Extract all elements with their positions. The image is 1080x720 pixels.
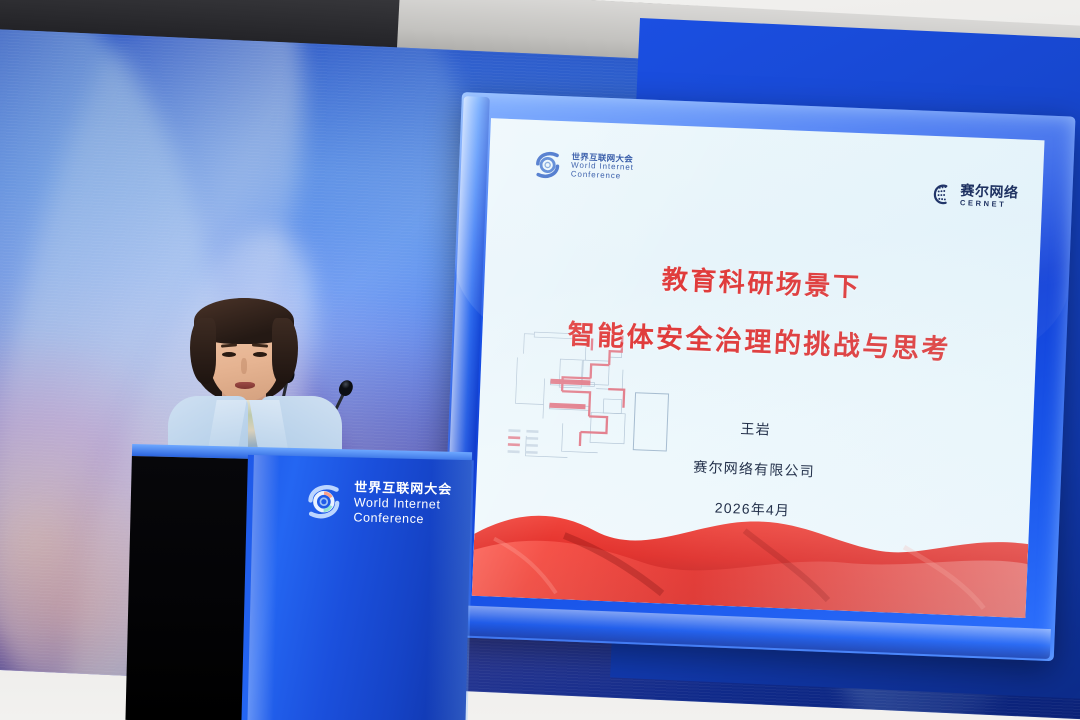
red-silk-wave-graphic xyxy=(472,486,1030,618)
podium-logo-cn: 世界互联网大会 xyxy=(354,479,452,497)
slide-title-block: 教育科研场景下 智能体安全治理的挑战与思考 xyxy=(481,252,1039,390)
presentation-screen: 世界互联网大会 World Internet Conference xyxy=(440,92,1075,661)
podium-wic-logo: 世界互联网大会 World Internet Conference xyxy=(302,478,452,527)
slide-wic-logo: 世界互联网大会 World Internet Conference xyxy=(530,148,634,185)
wic-ring-swoosh-icon xyxy=(530,148,564,182)
presenter-eye-left xyxy=(222,352,236,357)
podium-logo-en-2: Conference xyxy=(353,510,451,527)
podium-dark-panel xyxy=(125,456,249,720)
slide-organization: 赛尔网络有限公司 xyxy=(693,457,815,482)
presenter-mouth xyxy=(235,382,255,389)
slide-title-line-2: 智能体安全治理的挑战与思考 xyxy=(482,309,1037,370)
slide-cernet-logo: 赛尔网络 CERNET xyxy=(930,182,1019,210)
cernet-dot-grid-icon xyxy=(930,182,955,207)
conference-stage-photo: 世界互联网大会 World Internet Conference xyxy=(0,0,1080,720)
slide-content: 世界互联网大会 World Internet Conference xyxy=(472,118,1045,618)
presenter-eye-right xyxy=(253,352,267,357)
presenter-hair-side-left xyxy=(190,318,216,384)
wic-logo-text: 世界互联网大会 World Internet Conference xyxy=(571,152,635,182)
presenter-nose xyxy=(241,358,247,374)
diagram-side-box xyxy=(633,392,669,451)
slide-title-line-1: 教育科研场景下 xyxy=(484,252,1039,311)
presenter-hair-side-right xyxy=(272,318,298,384)
wic-ring-swoosh-icon xyxy=(302,480,345,523)
slide-author-name: 王岩 xyxy=(695,417,817,442)
podium: 世界互联网大会 World Internet Conference xyxy=(125,452,471,720)
cernet-logo-text: 赛尔网络 CERNET xyxy=(960,183,1019,209)
podium-logo-text: 世界互联网大会 World Internet Conference xyxy=(353,479,452,527)
